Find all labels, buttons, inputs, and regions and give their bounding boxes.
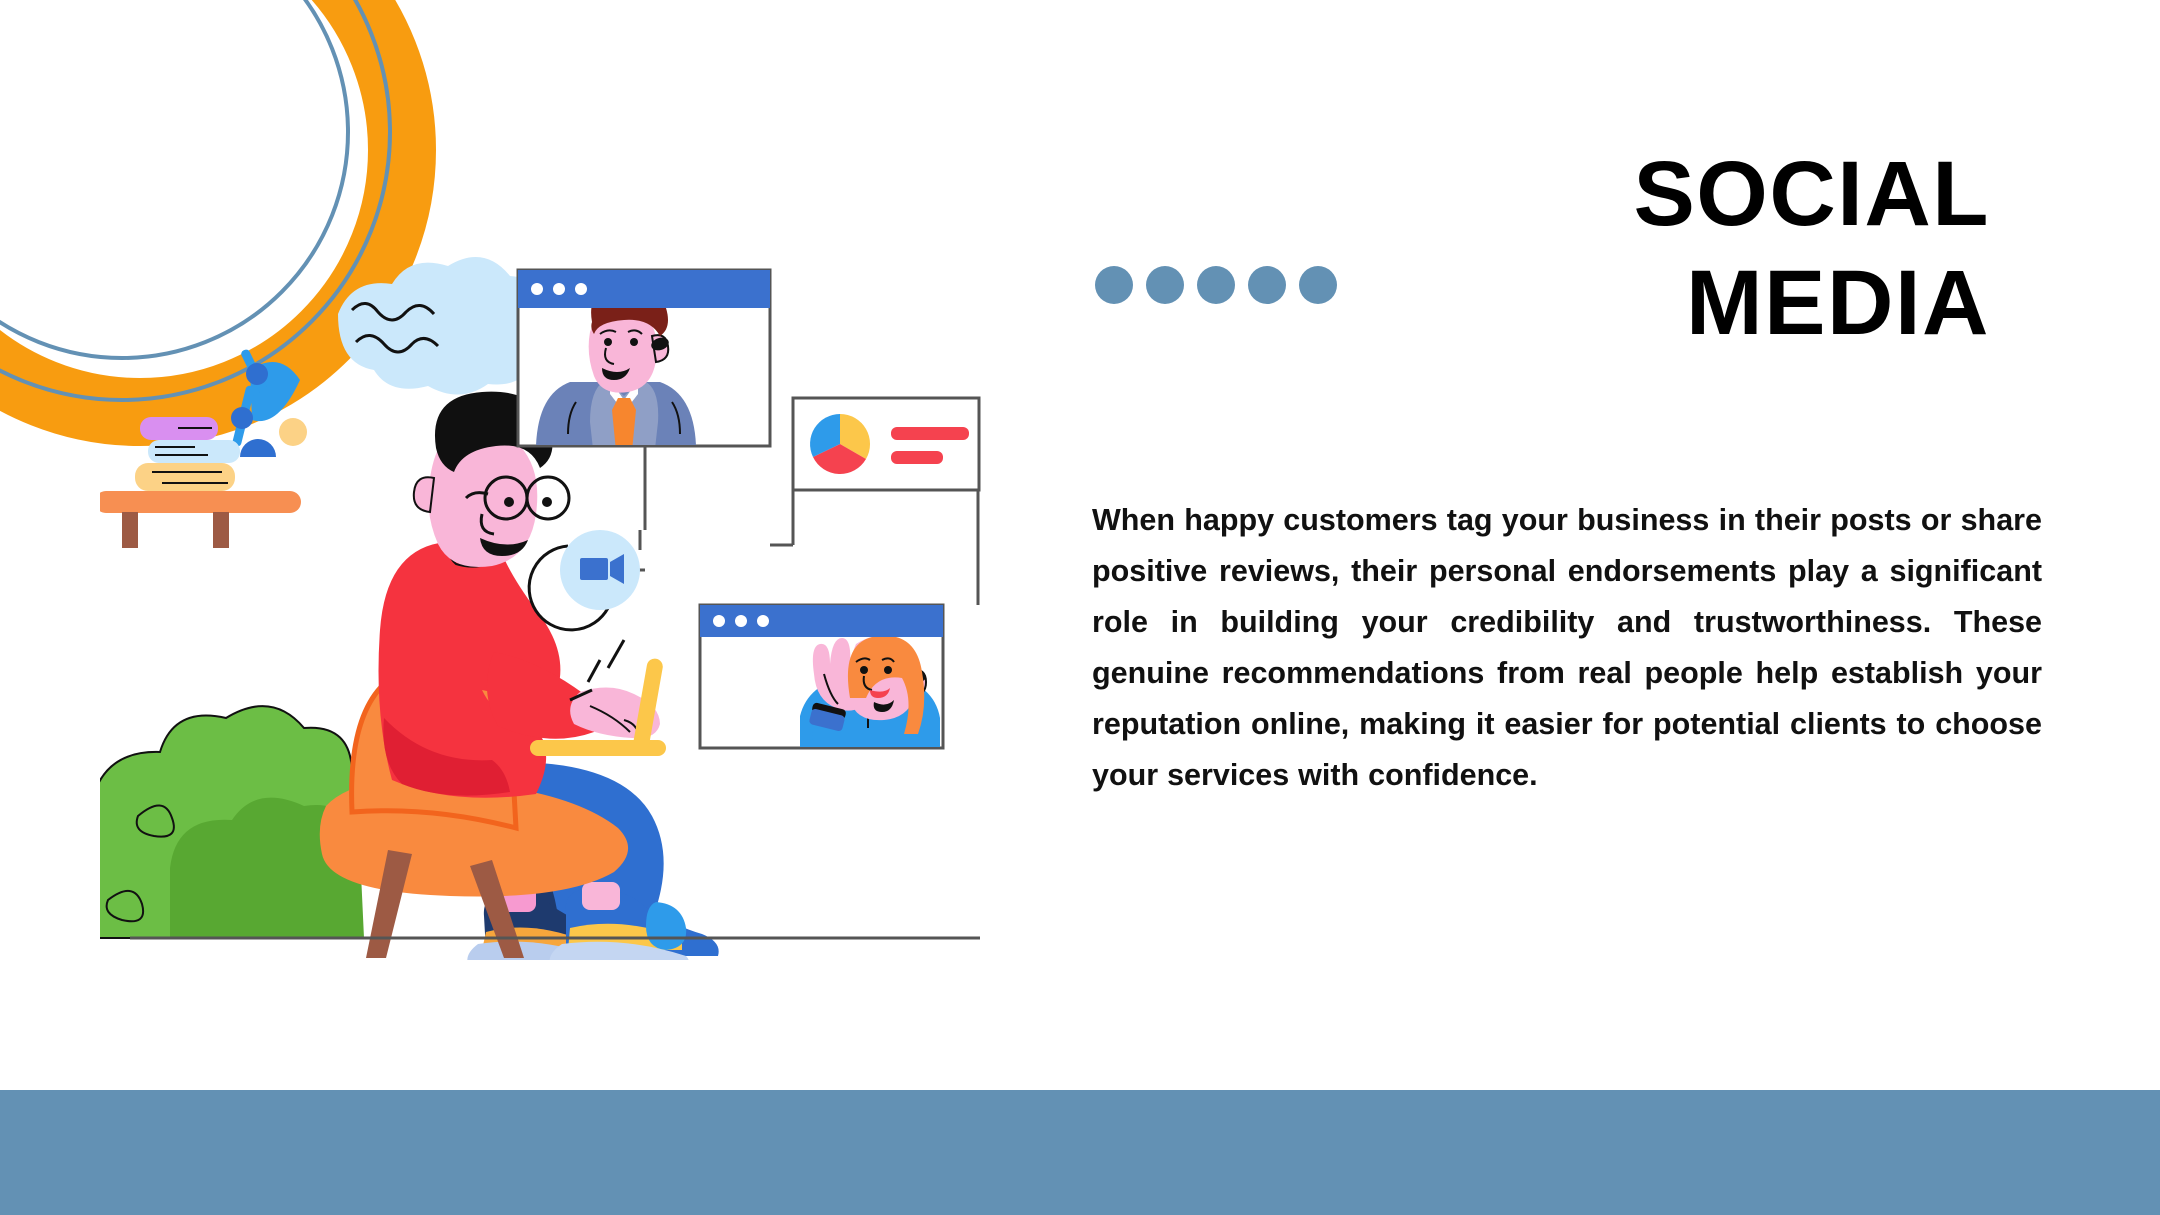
video-window-woman	[700, 605, 943, 762]
shelf-board	[100, 491, 301, 513]
lamp-joint-mid	[231, 407, 253, 429]
legend-bar-2	[891, 451, 943, 464]
shoe-front	[550, 888, 719, 960]
video-window-man	[518, 270, 770, 476]
book-yellow	[135, 463, 235, 491]
woman-eye-left	[860, 666, 868, 674]
slide-root: SOCIAL MEDIA When happy customers tag yo…	[0, 0, 2160, 1215]
window2-dot-3	[757, 615, 769, 627]
body-copy: When happy customers tag your business i…	[1092, 495, 2042, 801]
window1-dot-2	[553, 283, 565, 295]
lamp-joint-top	[246, 363, 268, 385]
pie-chart	[810, 414, 870, 474]
bottom-bar	[0, 1090, 2160, 1215]
book-lightblue	[148, 440, 240, 463]
desk-lamp-icon	[231, 348, 307, 457]
man-tie	[612, 398, 636, 472]
pie-chart-card	[793, 398, 979, 490]
title-line-1: SOCIAL	[1090, 140, 1990, 249]
video-camera-badge	[529, 530, 640, 630]
title-line-2: MEDIA	[1090, 249, 1990, 358]
woman-eye-right	[884, 666, 892, 674]
shelf-leg-left	[122, 512, 138, 548]
shelf-leg-right	[213, 512, 229, 548]
body-paragraph: When happy customers tag your business i…	[1092, 495, 2042, 801]
legend-bar-1	[891, 427, 969, 440]
eye-right	[542, 497, 552, 507]
ear	[414, 477, 434, 512]
page-title: SOCIAL MEDIA	[1090, 140, 1990, 357]
video-camera-icon	[580, 554, 624, 584]
sock-front	[582, 882, 620, 910]
window2-dot-2	[735, 615, 747, 627]
window2-dot-1	[713, 615, 725, 627]
video-call-workspace-illustration	[100, 250, 1000, 960]
thought-bubble	[338, 257, 547, 394]
man-eye-left	[604, 338, 612, 346]
shelf-group	[100, 348, 307, 548]
window1-dot-1	[531, 283, 543, 295]
lamp-glow	[279, 418, 307, 446]
window1-dot-3	[575, 283, 587, 295]
man-eye-right	[630, 338, 638, 346]
lamp-base	[240, 439, 276, 457]
eye-left	[504, 497, 514, 507]
